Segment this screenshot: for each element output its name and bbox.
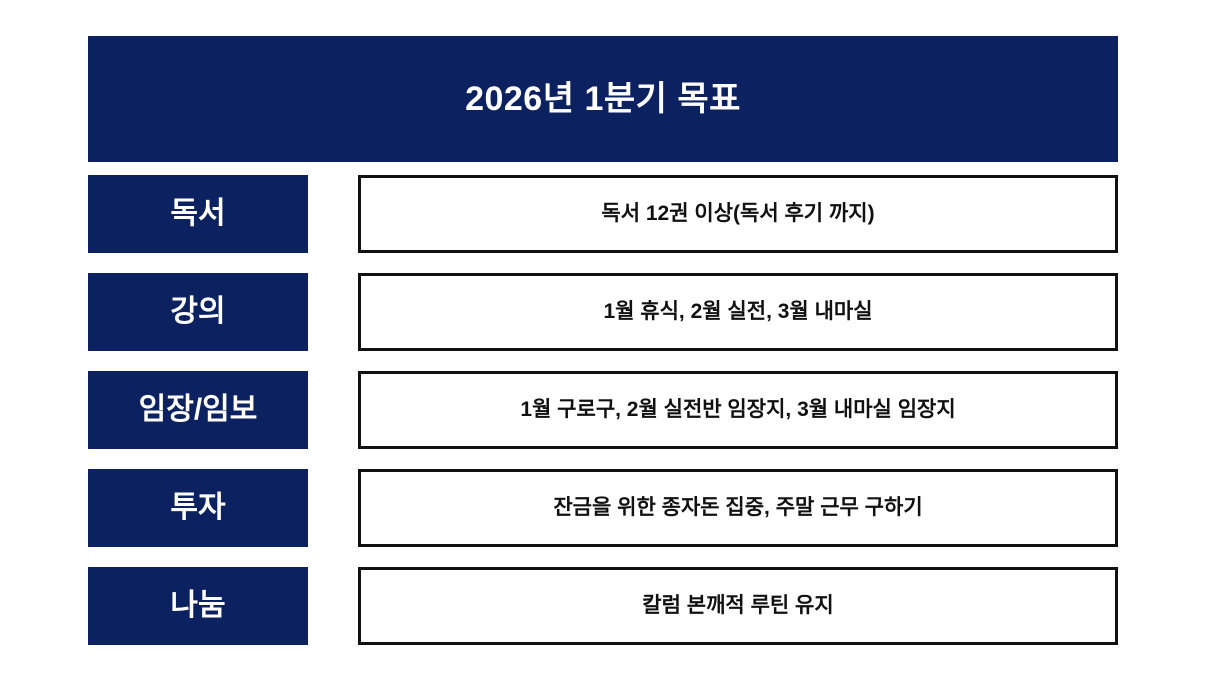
row-content-cell-1: 1월 휴식, 2월 실전, 3월 내마실 <box>358 273 1118 351</box>
row-label-cell-2: 임장/임보 <box>88 371 308 449</box>
goal-slide: 2026년 1분기 목표 독서 독서 12권 이상(독서 후기 까지) 강의 1… <box>0 0 1216 684</box>
title-banner: 2026년 1분기 목표 <box>88 36 1118 162</box>
row-label-text-3: 투자 <box>170 493 225 523</box>
row-content-text-1: 1월 휴식, 2월 실전, 3월 내마실 <box>603 299 872 324</box>
table-row: 투자 잔금을 위한 종자돈 집중, 주말 근무 구하기 <box>88 469 1118 547</box>
table-row: 임장/임보 1월 구로구, 2월 실전반 임장지, 3월 내마실 임장지 <box>88 371 1118 449</box>
row-label-text-2: 임장/임보 <box>139 395 258 425</box>
row-content-text-3: 잔금을 위한 종자돈 집중, 주말 근무 구하기 <box>553 495 922 520</box>
table-row: 강의 1월 휴식, 2월 실전, 3월 내마실 <box>88 273 1118 351</box>
table-row: 나눔 칼럼 본깨적 루틴 유지 <box>88 567 1118 645</box>
row-content-cell-0: 독서 12권 이상(독서 후기 까지) <box>358 175 1118 253</box>
table-row: 독서 독서 12권 이상(독서 후기 까지) <box>88 175 1118 253</box>
row-label-text-1: 강의 <box>170 297 225 327</box>
page-title: 2026년 1분기 목표 <box>465 82 741 116</box>
row-label-cell-4: 나눔 <box>88 567 308 645</box>
row-content-text-2: 1월 구로구, 2월 실전반 임장지, 3월 내마실 임장지 <box>520 397 955 422</box>
row-label-text-4: 나눔 <box>170 591 225 621</box>
row-label-text-0: 독서 <box>170 199 225 229</box>
row-content-cell-2: 1월 구로구, 2월 실전반 임장지, 3월 내마실 임장지 <box>358 371 1118 449</box>
row-label-cell-1: 강의 <box>88 273 308 351</box>
row-label-cell-3: 투자 <box>88 469 308 547</box>
row-content-cell-4: 칼럼 본깨적 루틴 유지 <box>358 567 1118 645</box>
row-label-cell-0: 독서 <box>88 175 308 253</box>
row-content-cell-3: 잔금을 위한 종자돈 집중, 주말 근무 구하기 <box>358 469 1118 547</box>
row-content-text-4: 칼럼 본깨적 루틴 유지 <box>642 593 833 618</box>
row-content-text-0: 독서 12권 이상(독서 후기 까지) <box>601 201 874 226</box>
goal-rows-container: 독서 독서 12권 이상(독서 후기 까지) 강의 1월 휴식, 2월 실전, … <box>88 175 1118 645</box>
